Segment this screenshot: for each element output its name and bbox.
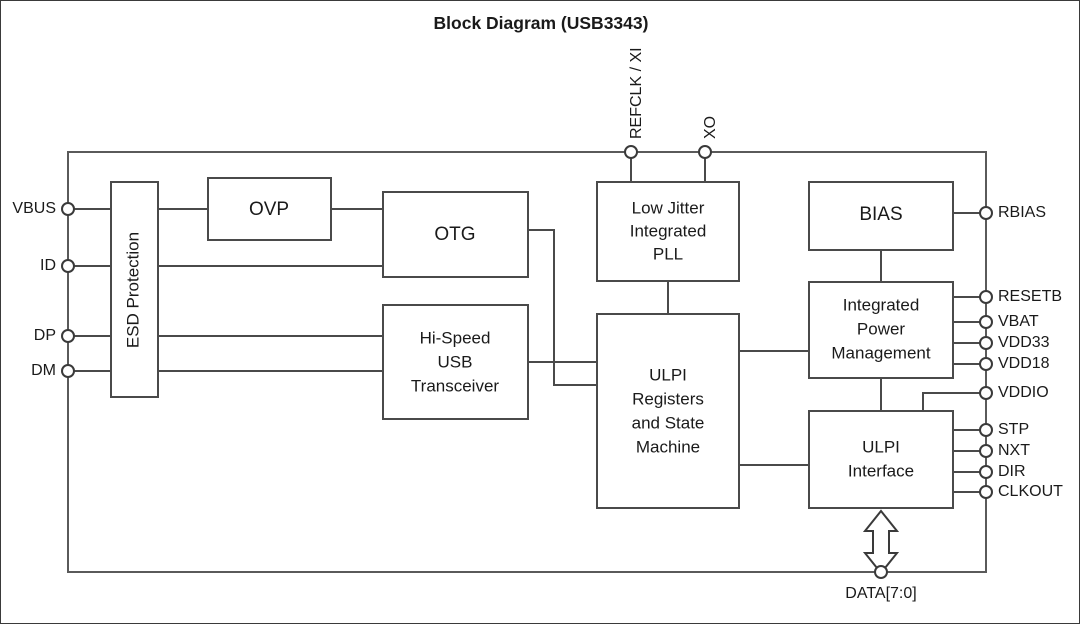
pin-dir[interactable]: DIR [980, 463, 1026, 480]
pin-clkout-label: CLKOUT [998, 483, 1063, 500]
pin-vdd33-label: VDD33 [998, 334, 1050, 351]
block-otg-label: OTG [434, 224, 475, 245]
pin-rbias-label: RBIAS [998, 204, 1046, 221]
pin-rbias-circle[interactable] [980, 207, 992, 219]
pin-vdd33-circle[interactable] [980, 337, 992, 349]
block-power-management: Integrated Power Management [809, 282, 953, 378]
block-pll-line1: Low Jitter [632, 198, 705, 217]
pin-dm[interactable]: DM [31, 362, 74, 379]
pin-dm-circle[interactable] [62, 365, 74, 377]
block-bias: BIAS [809, 182, 953, 250]
wire-group-left-inputs [68, 209, 111, 371]
pin-dp-circle[interactable] [62, 330, 74, 342]
pin-stp-circle[interactable] [980, 424, 992, 436]
pin-id-circle[interactable] [62, 260, 74, 272]
pin-nxt-circle[interactable] [980, 445, 992, 457]
pin-clkout-circle[interactable] [980, 486, 992, 498]
pin-dp-label: DP [34, 327, 56, 344]
block-usb-transceiver: Hi-Speed USB Transceiver [383, 305, 528, 419]
pin-vbus-circle[interactable] [62, 203, 74, 215]
pin-vddio-label: VDDIO [998, 384, 1049, 401]
pin-vdd18-circle[interactable] [980, 358, 992, 370]
pin-resetb-label: RESETB [998, 288, 1062, 305]
diagram-title: Block Diagram (USB3343) [434, 13, 649, 33]
block-usb-transceiver-line1: Hi-Speed [420, 328, 491, 347]
pin-xo-circle[interactable] [699, 146, 711, 158]
pin-rbias[interactable]: RBIAS [980, 204, 1046, 221]
pin-dm-label: DM [31, 362, 56, 379]
pin-vbat-label: VBAT [998, 313, 1039, 330]
block-ulpi-registers-line3: and State [632, 413, 705, 432]
pin-nxt-label: NXT [998, 442, 1030, 459]
pin-id[interactable]: ID [40, 257, 74, 274]
wire-vddio-to-interface [923, 393, 986, 411]
block-ulpi-registers: ULPI Registers and State Machine [597, 314, 739, 508]
block-ulpi-interface-line2: Interface [848, 461, 914, 480]
pin-refclk-xi-circle[interactable] [625, 146, 637, 158]
wire-group-power-pins [953, 297, 986, 364]
pin-stp-label: STP [998, 421, 1029, 438]
block-ulpi-interface: ULPI Interface [809, 411, 953, 508]
pin-data-circle[interactable] [875, 566, 887, 578]
block-usb-transceiver-line3: Transceiver [411, 376, 500, 395]
pin-dir-label: DIR [998, 463, 1026, 480]
block-usb-transceiver-line2: USB [438, 352, 473, 371]
pin-id-label: ID [40, 257, 56, 274]
block-ulpi-registers-line2: Registers [632, 389, 704, 408]
pin-data-label: DATA[7:0] [845, 585, 916, 602]
data-bus-arrow [865, 511, 897, 573]
block-diagram-svg: Block Diagram (USB3343) [1, 1, 1080, 624]
pin-dir-circle[interactable] [980, 466, 992, 478]
wire-group-interface-pins [953, 430, 986, 492]
block-esd-protection: ESD Protection [111, 182, 158, 397]
pin-resetb[interactable]: RESETB [980, 288, 1062, 305]
block-bias-label: BIAS [859, 204, 902, 225]
pin-vdd18[interactable]: VDD18 [980, 355, 1050, 372]
block-ulpi-registers-line1: ULPI [649, 365, 687, 384]
pin-vbat[interactable]: VBAT [980, 313, 1039, 330]
block-esd-protection-label: ESD Protection [123, 232, 142, 348]
block-ulpi-registers-line4: Machine [636, 437, 700, 456]
block-power-management-line1: Integrated [843, 295, 920, 314]
pin-vddio-circle[interactable] [980, 387, 992, 399]
pin-nxt[interactable]: NXT [980, 442, 1030, 459]
pin-vddio[interactable]: VDDIO [980, 384, 1049, 401]
block-pll-line3: PLL [653, 244, 683, 263]
block-ovp-label: OVP [249, 199, 289, 220]
pin-vbat-circle[interactable] [980, 316, 992, 328]
pin-vdd18-label: VDD18 [998, 355, 1050, 372]
block-ovp: OVP [208, 178, 331, 240]
pin-refclk-xi-label: REFCLK / XI [628, 47, 645, 139]
pin-vdd33[interactable]: VDD33 [980, 334, 1050, 351]
block-power-management-line2: Power [857, 319, 906, 338]
wire-group-clock-pins [631, 152, 705, 182]
pin-clkout[interactable]: CLKOUT [980, 483, 1063, 500]
block-power-management-line3: Management [831, 343, 931, 362]
block-otg: OTG [383, 192, 528, 277]
block-pll: Low Jitter Integrated PLL [597, 182, 739, 281]
pin-resetb-circle[interactable] [980, 291, 992, 303]
pin-refclk-xi[interactable]: REFCLK / XI [625, 47, 645, 158]
block-diagram-canvas: Block Diagram (USB3343) [0, 0, 1080, 624]
pin-stp[interactable]: STP [980, 421, 1029, 438]
block-ulpi-interface-line1: ULPI [862, 437, 900, 456]
pin-xo-label: XO [702, 116, 719, 139]
pin-vbus[interactable]: VBUS [12, 200, 74, 217]
pin-dp[interactable]: DP [34, 327, 74, 344]
pin-vbus-label: VBUS [12, 200, 56, 217]
block-pll-line2: Integrated [630, 221, 707, 240]
